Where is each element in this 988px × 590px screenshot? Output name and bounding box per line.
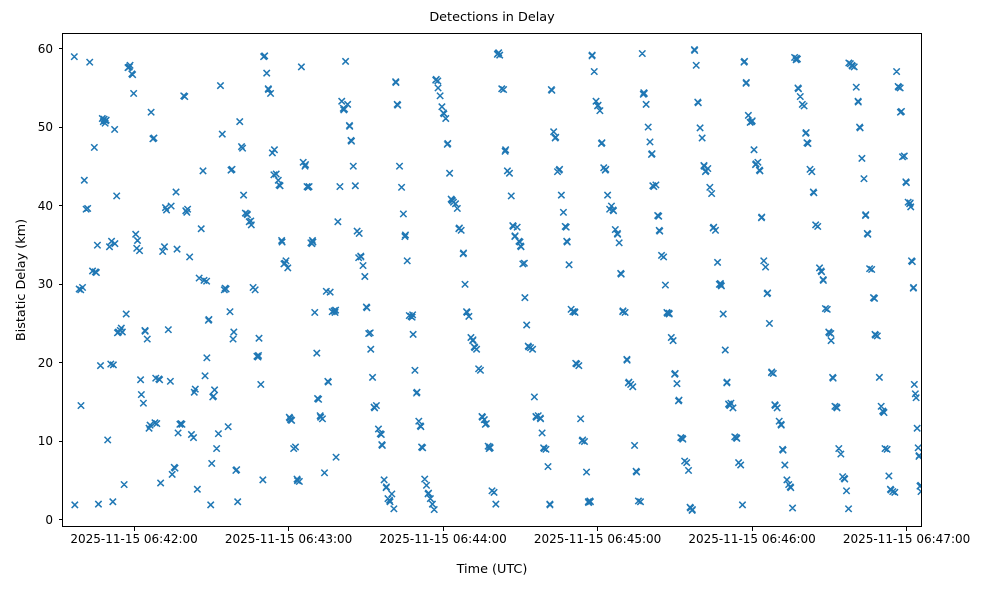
x-tick-mark xyxy=(752,527,753,531)
x-axis-label: Time (UTC) xyxy=(62,562,922,577)
x-tick-mark xyxy=(597,527,598,531)
plot-area[interactable] xyxy=(62,33,922,527)
y-tick-label: 50 xyxy=(0,120,62,134)
y-tick-label: 10 xyxy=(0,434,62,448)
page-title: Detections in Delay xyxy=(62,10,922,26)
scatter-markers-path xyxy=(71,46,921,513)
scatter-marker-group xyxy=(71,46,921,513)
x-tick-mark xyxy=(906,527,907,531)
y-tick-label: 0 xyxy=(0,513,62,527)
y-tick-label: 20 xyxy=(0,356,62,370)
scatter-series xyxy=(63,34,921,526)
y-tick-label: 40 xyxy=(0,199,62,213)
y-tick-label: 60 xyxy=(0,42,62,56)
x-tick-mark xyxy=(443,527,444,531)
x-tick-mark xyxy=(288,527,289,531)
y-tick-label: 30 xyxy=(0,277,62,291)
x-tick-mark xyxy=(134,527,135,531)
x-tick-label: 2025-11-15 06:47:00 xyxy=(797,532,988,546)
matplotlib-figure: Detections in Delay Bistatic Delay (km) … xyxy=(0,0,988,590)
